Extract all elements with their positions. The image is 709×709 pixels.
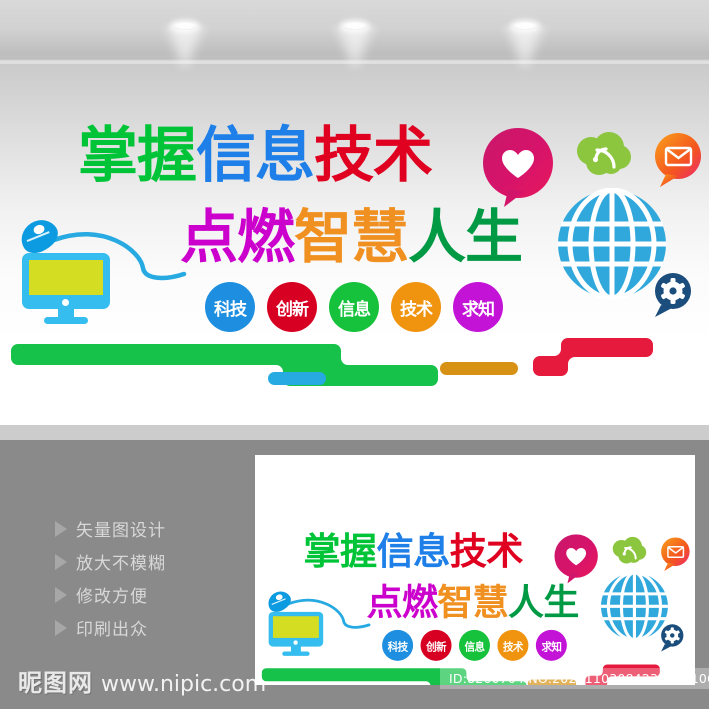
list-item: 修改方便 [55, 578, 255, 611]
badge-keji[interactable]: 科技 [205, 282, 255, 332]
email-speech-bubble-icon [648, 132, 706, 188]
headline-seg-2: 信息 [196, 126, 314, 186]
asset-id-tag: ID:8260704 NO:20231103084235283106 [440, 668, 709, 689]
badge-qiuzhi: 求知 [536, 630, 567, 661]
badge-xinxi[interactable]: 信息 [329, 282, 379, 332]
brand-url: www.nipic.com [101, 672, 266, 697]
triangle-bullet-icon [55, 521, 67, 537]
brand-name-cn: 昵图网 [18, 663, 93, 698]
feature-list: 矢量图设计 放大不模糊 修改方便 印刷出众 [55, 512, 255, 644]
monitor-screen [29, 260, 103, 295]
preview-headline-line-1: 掌握信息技术 [303, 533, 522, 570]
headline-seg-1: 掌握 [78, 126, 196, 186]
triangle-bullet-icon [55, 620, 67, 636]
headline-seg-3: 技术 [314, 126, 432, 186]
badge-label: 技术 [503, 638, 523, 654]
badge-qiuzhi[interactable]: 求知 [453, 282, 503, 332]
badge-label: 科技 [388, 638, 408, 654]
artwork-preview-card[interactable]: 掌握信息技术 点燃智慧人生 科技 创新 信息 技术 求知 [255, 455, 695, 685]
headline-seg-4: 点燃 [367, 584, 438, 620]
feature-label: 修改方便 [76, 582, 148, 607]
headline-line-2: 点燃智慧人生 [180, 208, 522, 266]
badge-label: 求知 [541, 638, 561, 654]
gear-speech-bubble-icon [648, 272, 696, 318]
headline-seg-5: 智慧 [437, 584, 508, 620]
deco-bar-group [10, 330, 700, 390]
ceiling-spotlight-icon [172, 22, 198, 30]
headline-seg-6: 人生 [508, 584, 579, 620]
site-watermark: 昵图网 www.nipic.com [18, 663, 266, 698]
badge-label: 创新 [426, 638, 446, 654]
triangle-bullet-icon [55, 554, 67, 570]
monitor-screen [273, 616, 319, 638]
badge-xinxi: 信息 [459, 630, 490, 661]
keyword-badge-row: 科技 创新 信息 技术 求知 [205, 282, 503, 332]
badge-keji: 科技 [382, 630, 413, 661]
monitor-base [44, 317, 88, 324]
badge-chuangxin: 创新 [421, 630, 452, 661]
cloud-wifi-icon [609, 535, 647, 566]
computer-monitor-icon [269, 612, 324, 654]
badge-label: 信息 [338, 295, 370, 320]
heart-speech-bubble-icon [551, 534, 602, 584]
monitor-power-dot [62, 299, 69, 306]
wall-mockup-scene: 掌握信息技术 点燃智慧人生 科技 创新 信息 技术 求知 [0, 0, 709, 425]
preview-content: 掌握信息技术 点燃智慧人生 科技 创新 信息 技术 求知 [255, 455, 695, 685]
cloud-wifi-icon [571, 129, 633, 179]
badge-label: 求知 [462, 295, 494, 320]
spotlight-beam [337, 26, 373, 72]
feature-label: 放大不模糊 [76, 549, 166, 574]
panel-top-strip [0, 425, 709, 440]
email-speech-bubble-icon [657, 537, 693, 572]
heart-speech-bubble-icon [478, 128, 560, 208]
preview-headline-line-2: 点燃智慧人生 [367, 584, 579, 620]
screenshot-root: 掌握信息技术 点燃智慧人生 科技 创新 信息 技术 求知 [0, 0, 709, 709]
headline-seg-4: 点燃 [180, 208, 294, 266]
list-item: 印刷出众 [55, 611, 255, 644]
headline-seg-2: 信息 [377, 533, 450, 570]
badge-jishu[interactable]: 技术 [391, 282, 441, 332]
ceiling-spotlight-icon [342, 22, 368, 30]
badge-label: 科技 [214, 295, 246, 320]
gear-speech-bubble-icon [657, 624, 687, 653]
headline-line-1: 掌握信息技术 [78, 126, 432, 186]
badge-jishu: 技术 [497, 630, 528, 661]
monitor-power-dot [293, 640, 297, 644]
spotlight-beam [167, 26, 203, 72]
feature-label: 印刷出众 [76, 615, 148, 640]
monitor-base [282, 652, 309, 656]
list-item: 矢量图设计 [55, 512, 255, 545]
headline-seg-6: 人生 [408, 208, 522, 266]
headline-seg-3: 技术 [450, 533, 523, 570]
triangle-bullet-icon [55, 587, 67, 603]
headline-seg-1: 掌握 [303, 533, 376, 570]
preview-badge-row: 科技 创新 信息 技术 求知 [382, 630, 567, 661]
badge-chuangxin[interactable]: 创新 [267, 282, 317, 332]
feature-label: 矢量图设计 [76, 516, 166, 541]
list-item: 放大不模糊 [55, 545, 255, 578]
computer-monitor-icon [22, 253, 110, 321]
spotlight-beam [507, 26, 543, 72]
badge-label: 信息 [465, 638, 485, 654]
badge-label: 技术 [400, 295, 432, 320]
badge-label: 创新 [276, 295, 308, 320]
ceiling-spotlight-icon [512, 22, 538, 30]
headline-seg-5: 智慧 [294, 208, 408, 266]
